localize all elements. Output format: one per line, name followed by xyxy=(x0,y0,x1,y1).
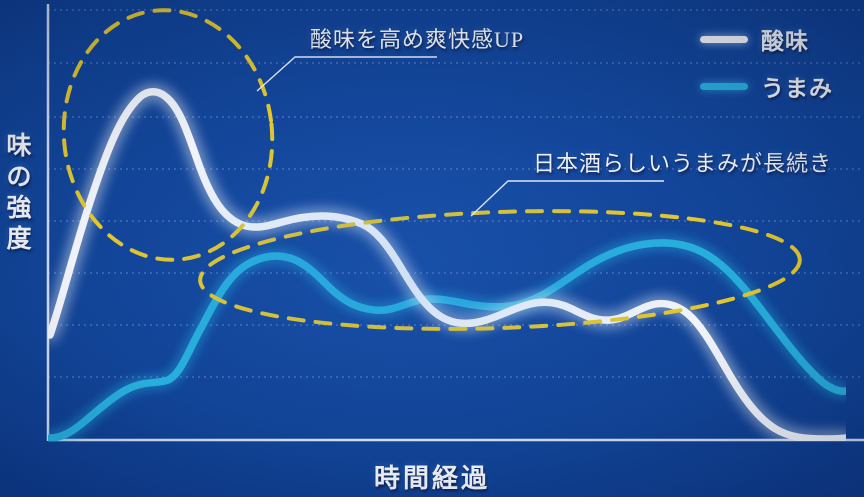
annotation-text-umami: 日本酒らしいうまみが長続き xyxy=(533,146,832,178)
legend-label: うまみ xyxy=(761,69,833,103)
x-axis-label: 時間経過 xyxy=(0,458,864,495)
y-axis-label-char: 味 xyxy=(1,131,37,162)
y-axis-label-char: 度 xyxy=(1,224,37,255)
y-axis-label-char: 強 xyxy=(1,193,37,224)
y-axis-label: 味 の 強 度 xyxy=(1,131,37,255)
legend-item-acid[interactable]: 酸味 xyxy=(700,22,833,56)
annotation-text-acid: 酸味を高め爽快感UP xyxy=(310,22,524,54)
legend-label: 酸味 xyxy=(761,22,809,56)
legend-item-umami[interactable]: うまみ xyxy=(700,69,833,103)
legend-swatch-icon xyxy=(700,36,748,43)
series-line-umami xyxy=(50,243,846,438)
chart-container: 味 の 強 度 時間経過 酸味を高め爽快感UP 日本酒らしいうまみが長続き 酸味… xyxy=(0,0,864,497)
legend-swatch-icon xyxy=(700,83,748,90)
chart-legend: 酸味 うまみ xyxy=(700,22,833,103)
y-axis-label-char: の xyxy=(1,162,37,193)
annotation-leader-acid xyxy=(257,57,437,91)
